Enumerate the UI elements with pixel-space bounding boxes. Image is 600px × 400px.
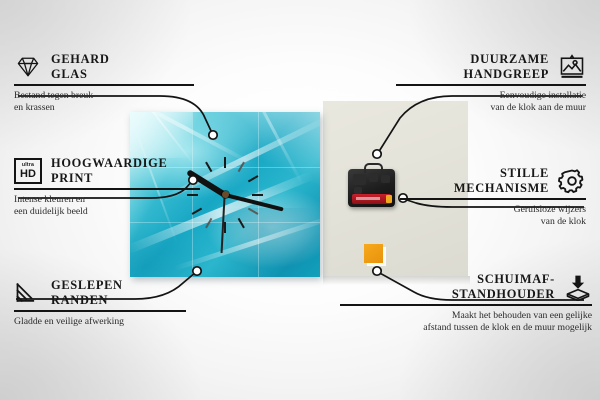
feature-gehard-glas[interactable]: GEHARD GLAS Bestand tegen breuk en krass… <box>14 52 194 115</box>
title-rule <box>396 84 586 86</box>
mechanism-part <box>369 173 378 182</box>
clock-mechanism <box>348 169 395 207</box>
feature-title: GESLEPEN RANDEN <box>51 278 123 307</box>
feature-description: Bestand tegen breuk en krassen <box>14 90 194 115</box>
title-rule <box>400 198 586 200</box>
feature-title: SCHUIMAF- STANDHOUDER <box>452 272 555 301</box>
title-rule <box>340 304 592 306</box>
picture-frame-icon <box>558 53 586 81</box>
battery-positive-terminal <box>386 195 392 203</box>
mechanism-part <box>354 187 362 194</box>
feature-title: DUURZAME HANDGREEP <box>464 52 549 81</box>
feature-description: Gladde en veilige afwerking <box>14 316 186 329</box>
feature-stille-mechanisme[interactable]: STILLE MECHANISME Geruisloze wijzers van… <box>400 166 586 229</box>
feature-description: Maakt het behouden van een gelijke afsta… <box>340 310 592 335</box>
battery-label <box>356 197 380 200</box>
foam-spacer <box>364 244 383 263</box>
mechanism-part <box>353 174 366 185</box>
gear-icon <box>558 167 586 195</box>
feature-description: Intense kleuren en een duidelijk beeld <box>14 194 200 219</box>
title-rule <box>14 310 186 312</box>
feature-description: Geruisloze wijzers van de klok <box>400 204 586 229</box>
feature-hoogwaardige-print[interactable]: ultra HD HOOGWAARDIGE PRINT Intense kleu… <box>14 156 200 219</box>
beveled-edges-icon <box>14 279 42 307</box>
mechanism-part <box>381 175 390 183</box>
title-rule <box>14 84 194 86</box>
mechanism-hanger-hook <box>364 163 383 173</box>
clock-center-cap <box>222 191 229 198</box>
feature-duurzame-handgreep[interactable]: DUURZAME HANDGREEP Eenvoudige installati… <box>396 52 586 115</box>
battery <box>352 194 391 204</box>
infographic-canvas: GEHARD GLAS Bestand tegen breuk en krass… <box>0 0 600 400</box>
ultra-hd-badge-icon: ultra HD <box>14 158 42 184</box>
feature-geslepen-randen[interactable]: GESLEPEN RANDEN Gladde en veilige afwerk… <box>14 278 186 328</box>
feature-title: STILLE MECHANISME <box>454 166 549 195</box>
title-rule <box>14 188 200 190</box>
feature-title: GEHARD GLAS <box>51 52 110 81</box>
feature-title: HOOGWAARDIGE PRINT <box>51 156 167 185</box>
feature-description: Eenvoudige installatie van de klok aan d… <box>396 90 586 115</box>
feature-schuimafstandhouder[interactable]: SCHUIMAF- STANDHOUDER Maakt het behouden… <box>340 272 592 335</box>
spacer-press-icon <box>564 273 592 301</box>
diamond-icon <box>14 53 42 81</box>
